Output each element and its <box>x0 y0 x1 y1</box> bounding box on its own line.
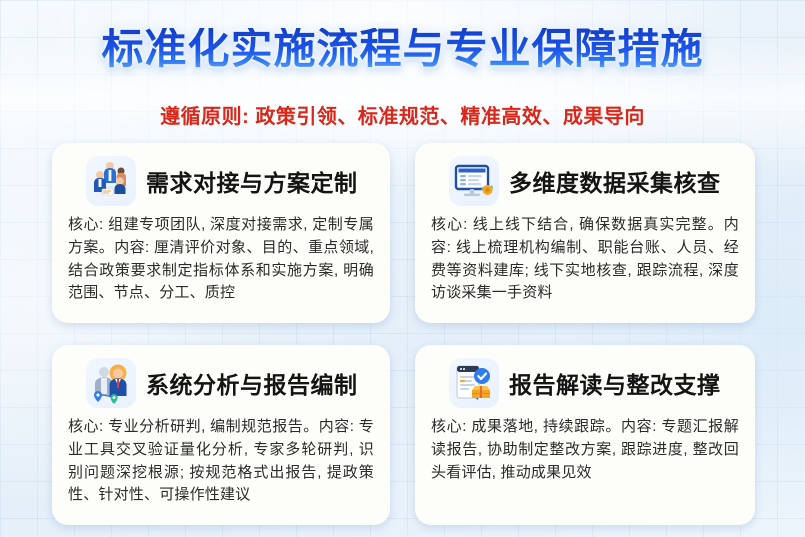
page-subtitle: 遵循原则: 政策引领、标准规范、精准高效、成果导向 <box>0 100 805 129</box>
page-title: 标准化实施流程与专业保障措施 <box>0 28 805 70</box>
card-body: 核心: 专业分析研判, 编制规范报告。内容: 专业工具交叉验证量化分析, 专家多… <box>66 416 376 507</box>
card-title: 需求对接与方案定制 <box>146 164 358 198</box>
card-body: 核心: 组建专项团队, 深度对接需求, 定制专属方案。内容: 厘清评价对象、目的… <box>66 214 376 305</box>
card-header: 报告解读与整改支撑 <box>429 357 741 409</box>
card-title: 报告解读与整改支撑 <box>509 366 721 400</box>
card-title: 系统分析与报告编制 <box>146 366 358 400</box>
monitor-data-icon <box>449 156 499 206</box>
report-check-icon <box>449 358 499 408</box>
card-title: 多维度数据采集核查 <box>509 164 721 198</box>
process-card-3[interactable]: 系统分析与报告编制 核心: 专业分析研判, 编制规范报告。内容: 专业工具交叉验… <box>52 345 390 525</box>
card-body: 核心: 成果落地, 持续跟踪。内容: 专题汇报解读报告, 协助制定整改方案, 跟… <box>429 416 741 484</box>
card-header: 需求对接与方案定制 <box>66 155 376 207</box>
process-card-1[interactable]: 需求对接与方案定制 核心: 组建专项团队, 深度对接需求, 定制专属方案。内容:… <box>52 143 390 323</box>
card-header: 系统分析与报告编制 <box>66 357 376 409</box>
process-card-4[interactable]: 报告解读与整改支撑 核心: 成果落地, 持续跟踪。内容: 专题汇报解读报告, 协… <box>415 345 755 525</box>
team-meeting-icon <box>86 156 136 206</box>
header: 标准化实施流程与专业保障措施 遵循原则: 政策引领、标准规范、精准高效、成果导向 <box>0 0 805 140</box>
analysts-location-icon <box>86 358 136 408</box>
process-card-2[interactable]: 多维度数据采集核查 核心: 线上线下结合, 确保数据真实完整。内容: 线上梳理机… <box>415 143 755 323</box>
card-header: 多维度数据采集核查 <box>429 155 741 207</box>
card-body: 核心: 线上线下结合, 确保数据真实完整。内容: 线上梳理机构编制、职能台账、人… <box>429 214 741 305</box>
